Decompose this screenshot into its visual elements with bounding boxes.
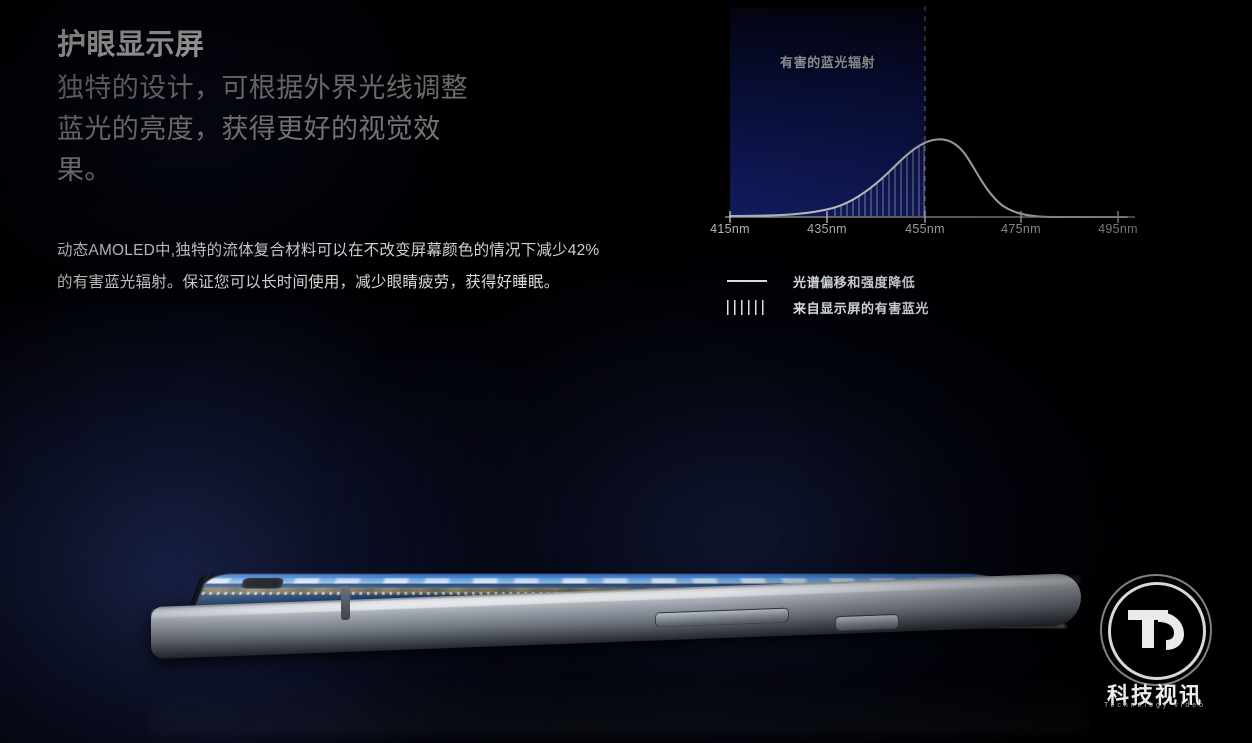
watermark-en-text: Technology video — [1096, 702, 1214, 709]
promo-stage: 护眼显示屏 独特的设计，可根据外界光线调整蓝光的亮度，获得更好的视觉效果。 动态… — [0, 0, 1252, 743]
logo-tv-monogram-icon — [1108, 582, 1200, 674]
background-vignette — [0, 0, 1252, 743]
watermark-logo: 科技视讯 Technology video — [1096, 582, 1214, 712]
